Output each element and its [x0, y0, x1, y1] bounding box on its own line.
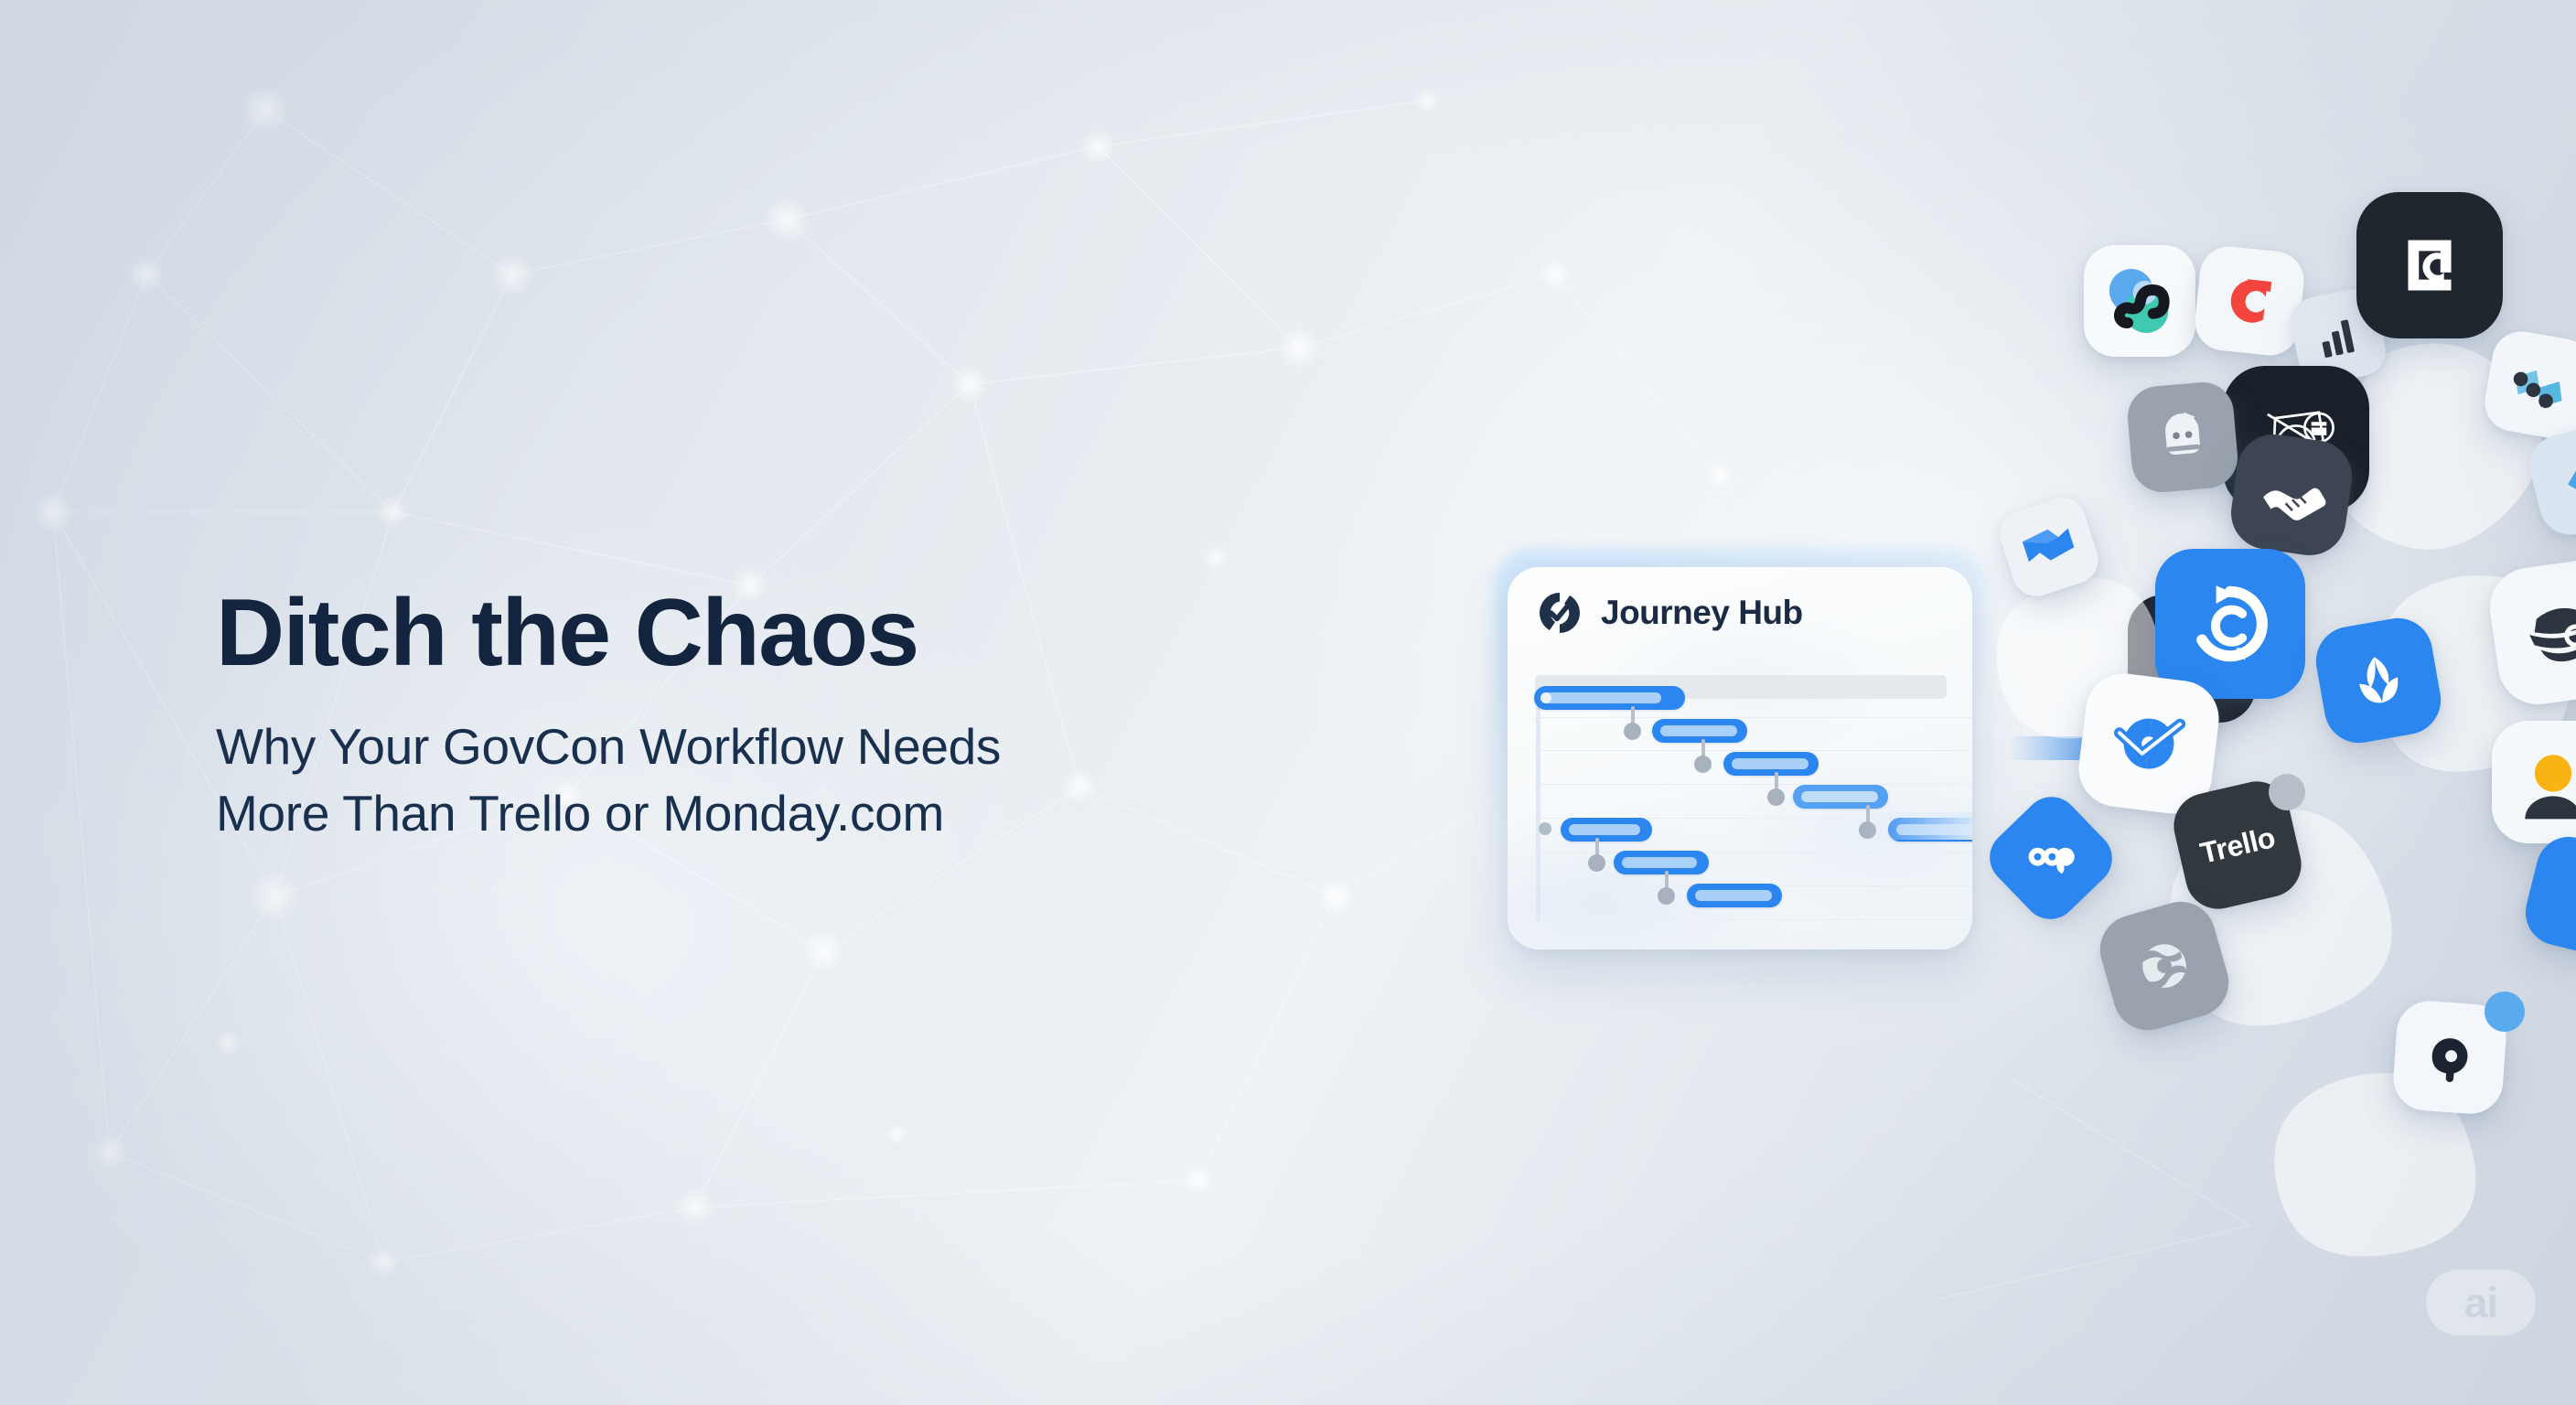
gantt-bar[interactable] [1534, 686, 1685, 710]
leaf-glyph [2335, 638, 2422, 724]
card-surface: Journey Hub [1508, 567, 1972, 949]
robot-grey-app-icon[interactable] [2125, 380, 2240, 495]
tiles-glyph [2497, 344, 2576, 426]
hat-face-glyph [2511, 581, 2576, 684]
page-subtitle: Why Your GovCon Workflow Needs More Than… [216, 713, 1350, 846]
trello-label: Trello [2197, 820, 2279, 871]
gantt-chart[interactable] [1508, 659, 1972, 949]
gantt-bar[interactable] [1793, 785, 1888, 809]
gantt-bar[interactable] [1687, 884, 1782, 907]
check-circle-glyph [2098, 693, 2198, 793]
cycle-glyph [2180, 574, 2281, 674]
gantt-start-node [1540, 692, 1551, 703]
gantt-milestone-dot [1539, 822, 1551, 835]
gantt-milestone-dot [1767, 788, 1785, 806]
red-c-glyph [2210, 262, 2289, 340]
gantt-gridline [1533, 750, 1972, 751]
avatar-yellow-app-icon[interactable] [2492, 721, 2576, 843]
gantt-milestone-dot [1658, 887, 1675, 905]
bracket-c-app-icon[interactable] [2356, 192, 2503, 338]
edge-blue-glyph [2548, 444, 2576, 517]
gantt-milestone-dot [1624, 723, 1641, 740]
owl-glyph [2021, 828, 2081, 888]
gantt-bar[interactable] [1561, 818, 1652, 842]
cycle-blue-app-icon[interactable] [2155, 549, 2305, 699]
spiral-p-glyph [2412, 1020, 2486, 1094]
handshake-app-icon[interactable] [2227, 430, 2356, 560]
gantt-bar[interactable] [1723, 752, 1819, 776]
page-subtitle-line-2: More Than Trello or Monday.com [216, 780, 1350, 847]
gantt-gridline [1533, 717, 1972, 718]
loop-glyph [2098, 259, 2182, 343]
journey-hub-logo [1537, 590, 1583, 636]
gantt-spine [1536, 704, 1540, 922]
trello-badge-dot [2269, 774, 2305, 810]
hero-copy: Ditch the Chaos Why Your GovCon Workflow… [216, 585, 1350, 846]
gantt-gridline [1533, 784, 1972, 785]
gantt-gridline [1533, 852, 1972, 853]
globe-glyph [2115, 917, 2215, 1016]
bracket-c-glyph [2385, 220, 2474, 310]
avatar-glyph [2509, 738, 2576, 826]
red-c-app-icon[interactable] [2192, 243, 2306, 358]
handshake-glyph [2249, 452, 2335, 539]
gantt-milestone-dot [1588, 854, 1605, 872]
page-title: Ditch the Chaos [216, 585, 1350, 681]
app-icon-cluster: Trello [1948, 274, 2576, 1281]
journey-hub-card[interactable]: Journey Hub [1500, 549, 1994, 979]
page-subtitle-line-1: Why Your GovCon Workflow Needs [216, 713, 1350, 780]
zigzag-glyph [2008, 506, 2091, 589]
gantt-bar[interactable] [1652, 719, 1747, 743]
gantt-bar[interactable] [1614, 851, 1709, 874]
card-title: Journey Hub [1601, 594, 1803, 632]
gantt-gridline [1533, 919, 1972, 920]
loop-teal-app-icon[interactable] [2084, 245, 2195, 357]
card-header: Journey Hub [1508, 567, 1972, 659]
leaf-blue-app-icon[interactable] [2311, 613, 2446, 748]
spiral-p-badge-dot [2485, 992, 2525, 1032]
gantt-milestone-dot [1694, 756, 1712, 773]
ai-watermark: ai [2426, 1270, 2536, 1335]
robot-glyph [2145, 400, 2220, 475]
